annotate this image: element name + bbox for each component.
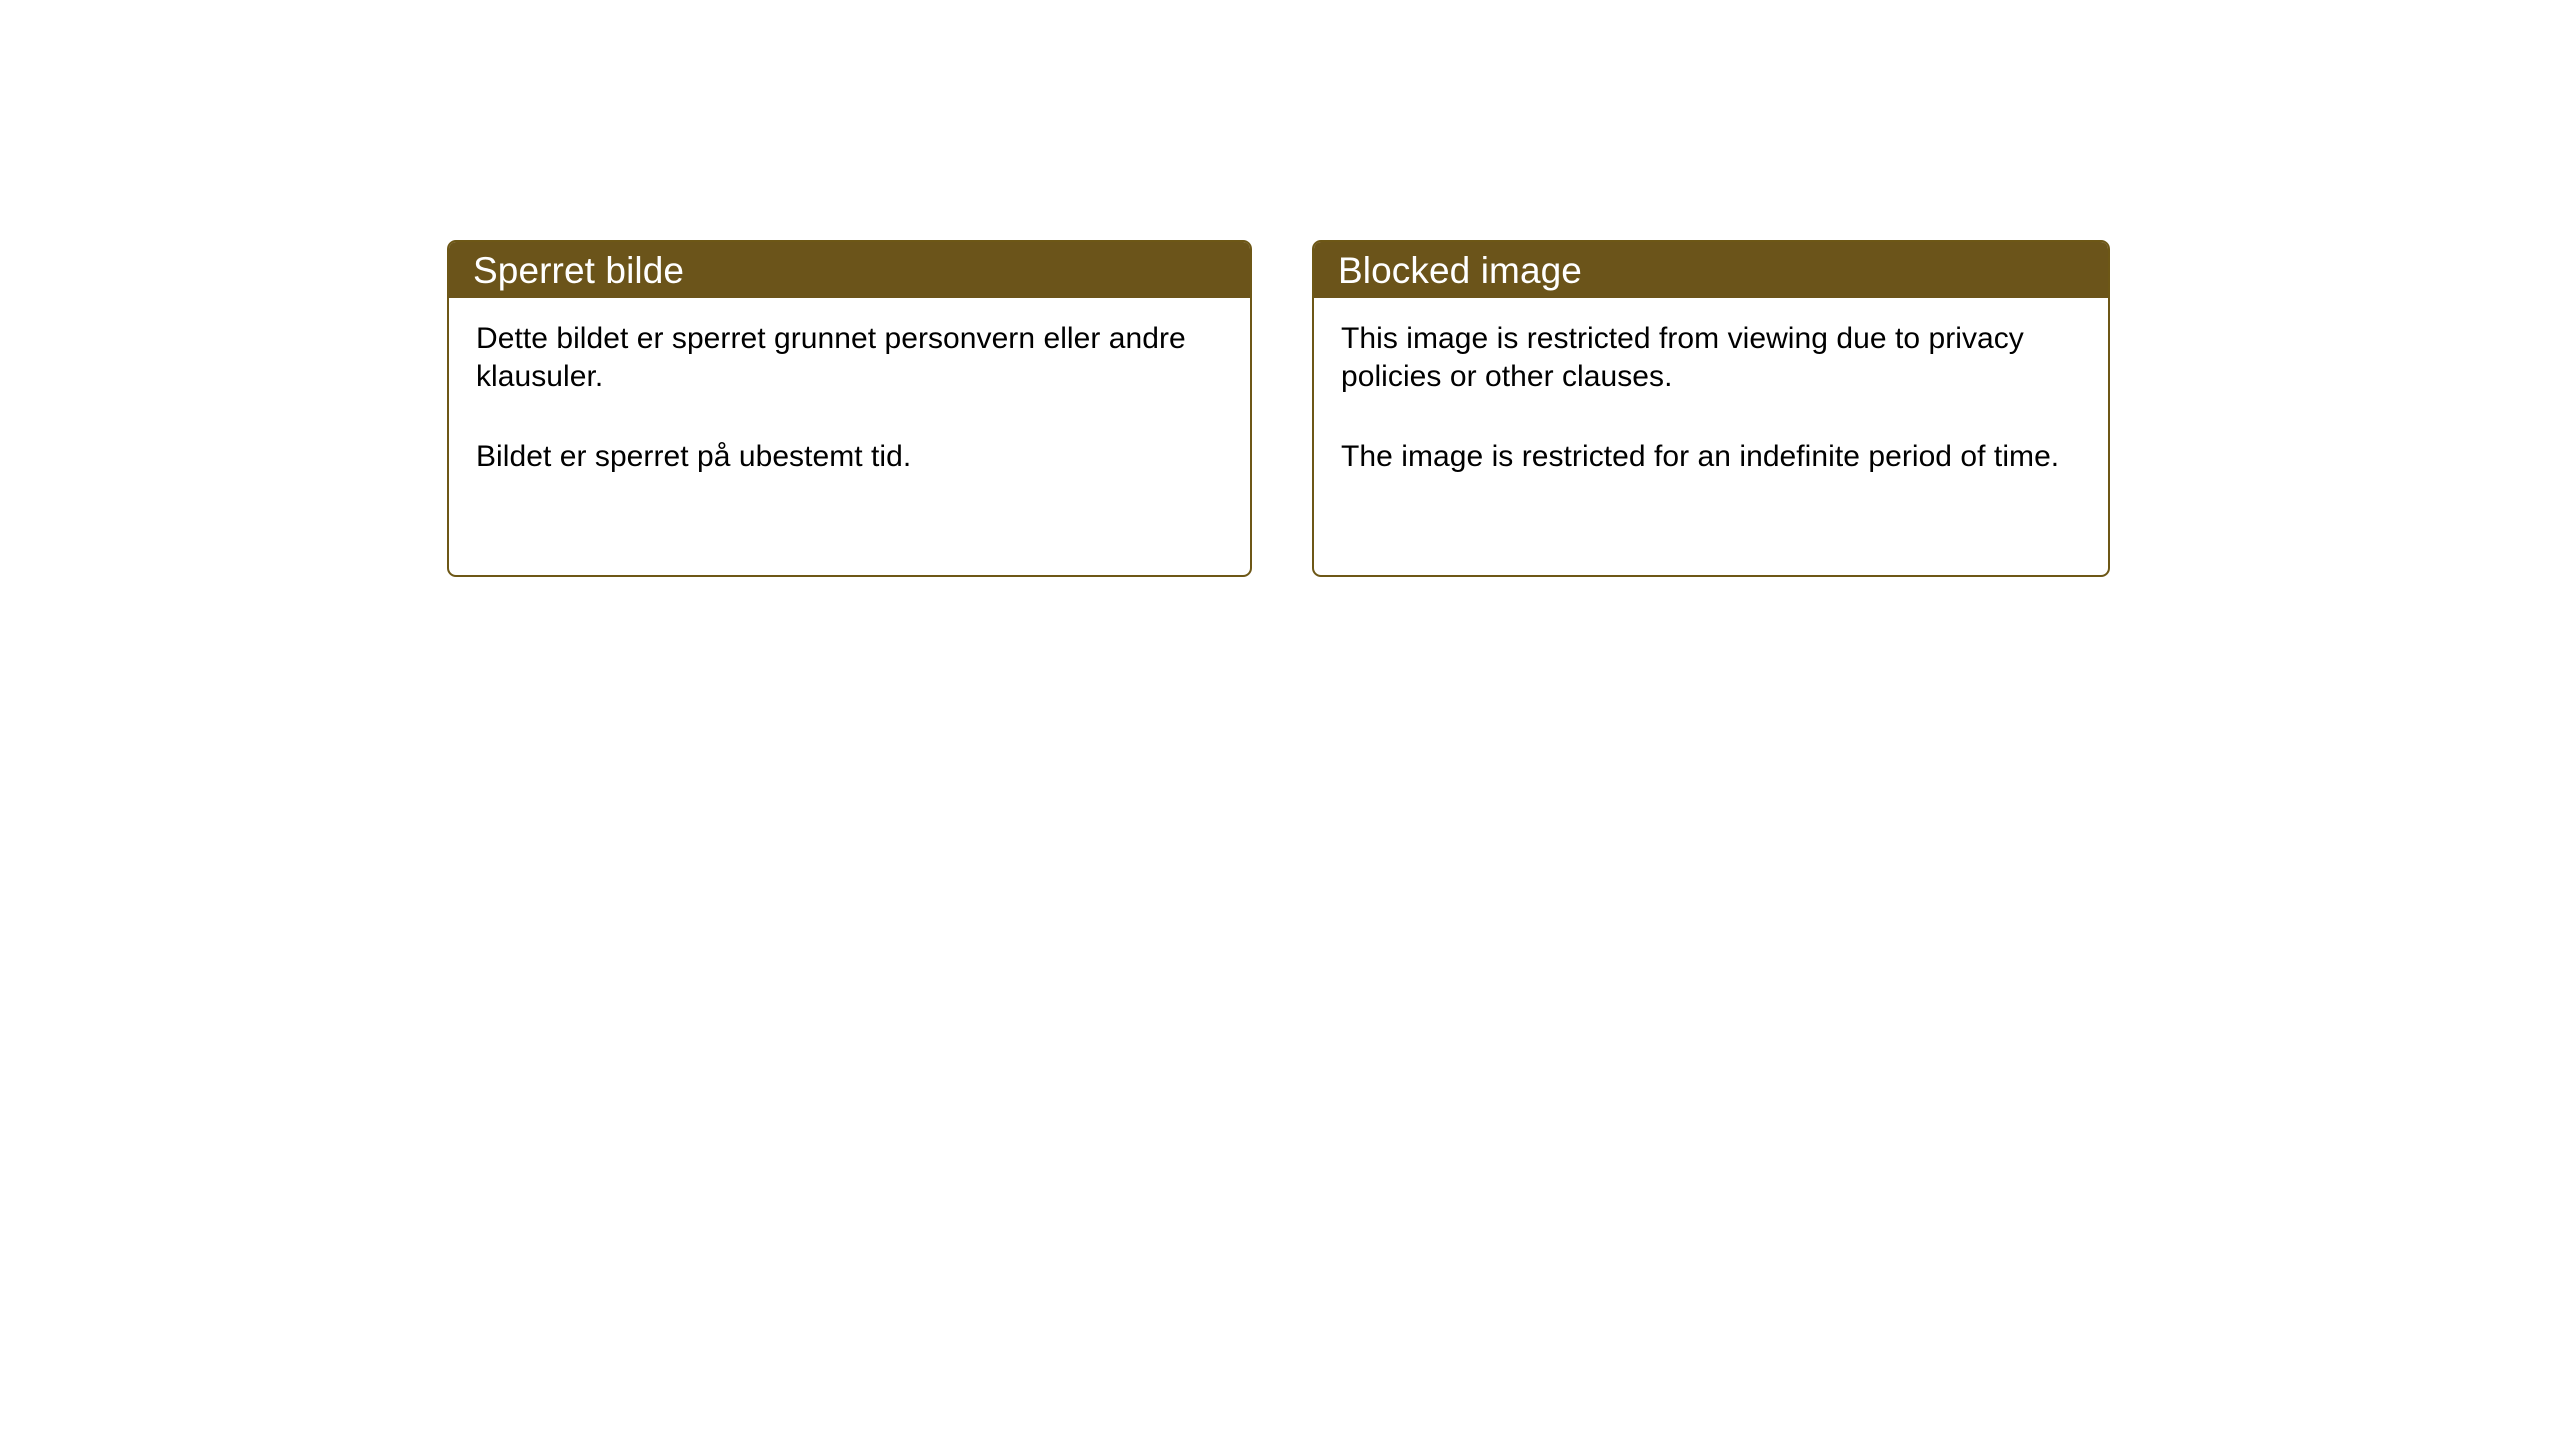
panel-title-english: Blocked image bbox=[1338, 252, 1582, 289]
panel-paragraph-primary-english: This image is restricted from viewing du… bbox=[1341, 320, 2086, 396]
panel-title-norwegian: Sperret bilde bbox=[473, 252, 684, 289]
panel-header-english: Blocked image bbox=[1314, 242, 2108, 298]
panel-paragraph-primary-norwegian: Dette bildet er sperret grunnet personve… bbox=[476, 320, 1228, 396]
panel-header-norwegian: Sperret bilde bbox=[449, 242, 1250, 298]
panel-paragraph-secondary-english: The image is restricted for an indefinit… bbox=[1341, 438, 2086, 476]
blocked-image-notice-panel-english: Blocked image This image is restricted f… bbox=[1312, 240, 2110, 577]
panel-body-norwegian: Dette bildet er sperret grunnet personve… bbox=[449, 298, 1250, 498]
blocked-image-notice-panel-norwegian: Sperret bilde Dette bildet er sperret gr… bbox=[447, 240, 1252, 577]
page-canvas: Sperret bilde Dette bildet er sperret gr… bbox=[0, 0, 2560, 1440]
panel-body-english: This image is restricted from viewing du… bbox=[1314, 298, 2108, 498]
panel-paragraph-secondary-norwegian: Bildet er sperret på ubestemt tid. bbox=[476, 438, 1228, 476]
